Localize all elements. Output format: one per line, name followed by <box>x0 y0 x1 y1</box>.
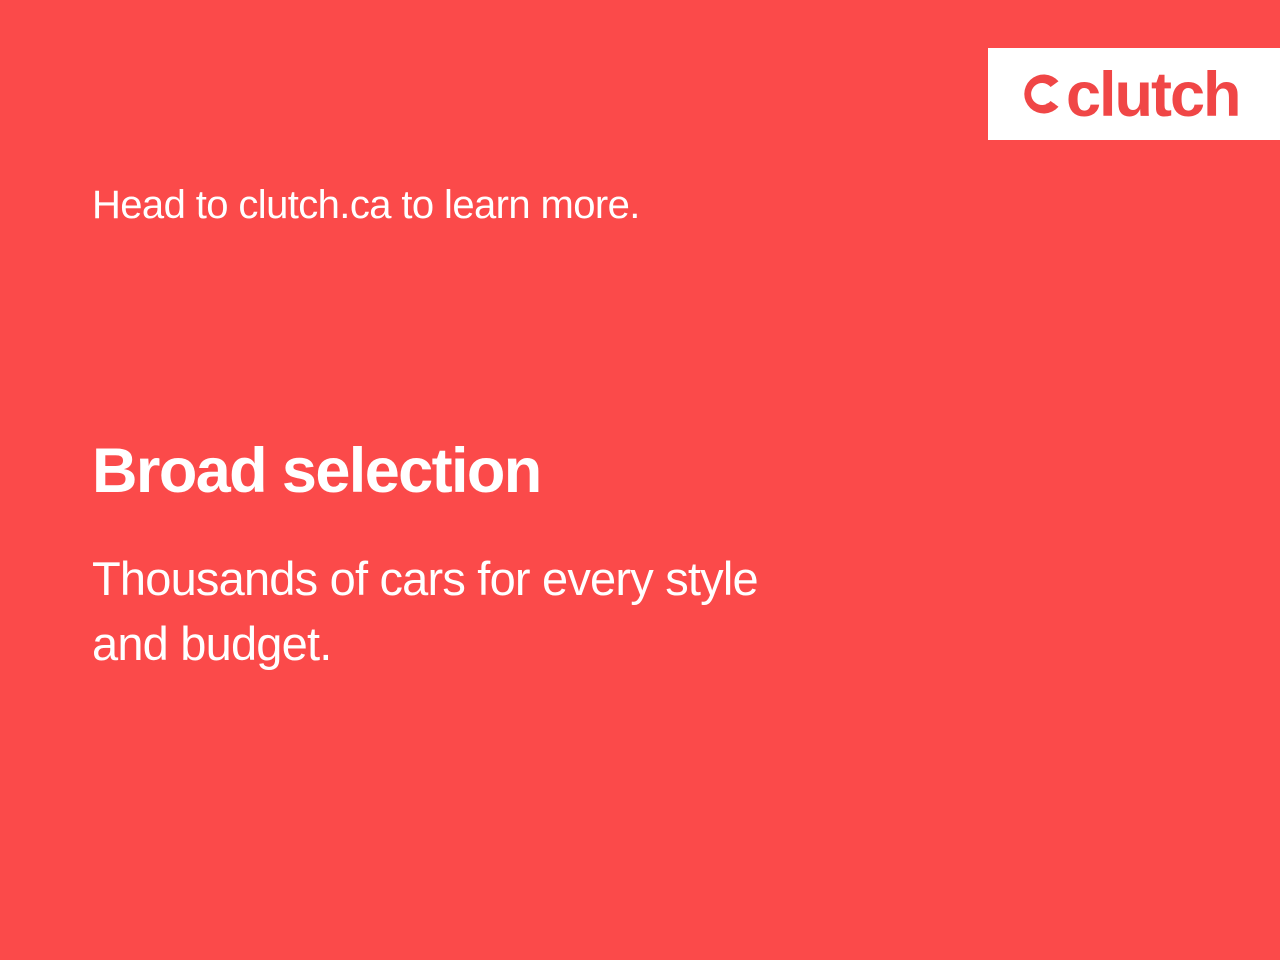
clutch-logo-lockup: clutch <box>1018 63 1240 126</box>
clutch-c-mark-icon <box>1018 69 1064 119</box>
subtitle-text: Thousands of cars for every style and bu… <box>92 547 1052 677</box>
clutch-logo-badge[interactable]: clutch <box>988 48 1280 140</box>
page-title: Broad selection <box>92 438 541 504</box>
eyebrow-text: Head to clutch.ca to learn more. <box>92 182 640 228</box>
clutch-wordmark: clutch <box>1066 64 1240 127</box>
subtitle-line: Thousands of cars for every style <box>92 547 1052 612</box>
subtitle-line: and budget. <box>92 612 1052 677</box>
slide-canvas: clutch Head to clutch.ca to learn more. … <box>0 0 1280 960</box>
